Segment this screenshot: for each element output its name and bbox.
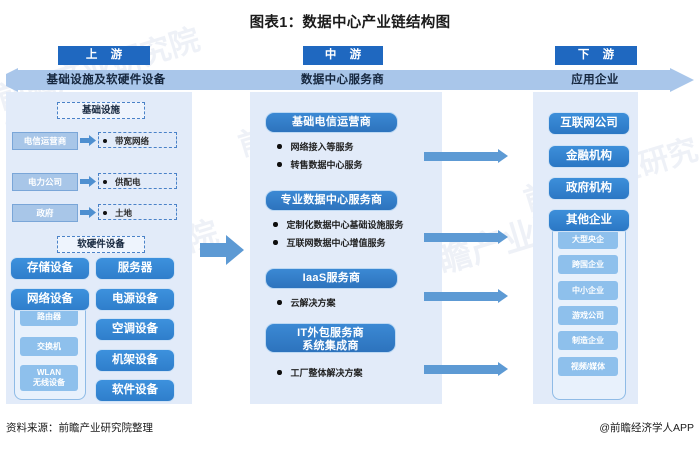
other-sub-multinational-enterprise[interactable]: 跨国企业 <box>558 255 618 274</box>
ribbon-label-midstream: 数据中心服务商 <box>250 71 435 87</box>
device-server[interactable]: 服务器 <box>95 257 175 280</box>
bullet-dot-icon <box>277 370 282 375</box>
mid-item-idc-value-added-service: 互联网数据中心增值服务 <box>273 236 386 249</box>
upstream-resource-bandwidth-network[interactable]: 带宽网络 <box>98 132 177 148</box>
page-title: 图表1：数据中心产业链结构图 <box>0 11 700 32</box>
upstream-source-government[interactable]: 政府 <box>12 204 78 222</box>
device-power-equipment[interactable]: 电源设备 <box>95 288 175 311</box>
stage-chip-midstream: 中 游 <box>303 46 383 65</box>
upstream-resource-power-supply[interactable]: 供配电 <box>98 173 177 189</box>
other-sub-sme[interactable]: 中小企业 <box>558 281 618 300</box>
device-rack-equipment[interactable]: 机架设备 <box>95 349 175 372</box>
device-storage-equipment[interactable]: 存储设备 <box>10 257 90 280</box>
arrow-mid-to-down-1-icon <box>424 152 499 161</box>
mid-item-cloud-solution: 云解决方案 <box>277 296 336 309</box>
bullet-dot-icon <box>277 144 282 149</box>
mid-header-it-outsourcing-system-integrators[interactable]: IT外包服务商 系统集成商 <box>265 323 396 353</box>
item-label: 互联网数据中心增值服务 <box>287 238 386 248</box>
item-label: 工厂整体解决方案 <box>291 368 363 378</box>
mid-header-iaas-providers[interactable]: IaaS服务商 <box>265 268 398 289</box>
upstream-resource-land[interactable]: 土地 <box>98 204 177 220</box>
other-sub-gaming-company[interactable]: 游戏公司 <box>558 306 618 325</box>
ribbon-label-upstream: 基础设施及软硬件设备 <box>16 71 196 87</box>
bullet-dot-icon <box>277 162 282 167</box>
upstream-section-infrastructure-label: 基础设施 <box>57 102 145 119</box>
resource-label: 供配电 <box>115 177 141 187</box>
header-line-2: 系统集成商 <box>266 340 395 353</box>
bullet-dot-icon <box>273 240 278 245</box>
other-sub-large-central-soe[interactable]: 大型央企 <box>558 230 618 249</box>
network-sub-wlan-wireless[interactable]: WLAN 无线设备 <box>20 365 78 391</box>
network-sub-switch[interactable]: 交换机 <box>20 337 78 356</box>
mid-item-resale-datacenter-service: 转售数据中心服务 <box>277 158 363 171</box>
resource-label: 带宽网络 <box>115 136 149 146</box>
downstream-financial-institutions[interactable]: 金融机构 <box>548 145 630 168</box>
brand-watermark: @前瞻经济学人APP <box>599 420 694 435</box>
item-label: 转售数据中心服务 <box>291 160 363 170</box>
device-air-conditioning-equipment[interactable]: 空调设备 <box>95 318 175 341</box>
mid-item-network-access-service: 网络接入等服务 <box>277 140 354 153</box>
upstream-source-power-company[interactable]: 电力公司 <box>12 173 78 191</box>
wlan-line1: WLAN <box>20 368 78 378</box>
bullet-dot-icon <box>273 222 278 227</box>
bullet-dot-icon <box>103 180 107 184</box>
arrow-mid-to-down-3-icon <box>424 292 499 301</box>
ribbon-label-downstream: 应用企业 <box>520 71 670 87</box>
item-label: 网络接入等服务 <box>291 142 354 152</box>
arrow-mid-to-down-2-icon <box>424 233 499 242</box>
downstream-internet-companies[interactable]: 互联网公司 <box>548 112 630 135</box>
device-software-equipment[interactable]: 软件设备 <box>95 379 175 402</box>
stage-chip-upstream: 上 游 <box>58 46 150 65</box>
stage-chip-downstream: 下 游 <box>555 46 637 65</box>
upstream-source-telecom-operator[interactable]: 电信运营商 <box>12 132 78 150</box>
downstream-other-enterprises[interactable]: 其他企业 <box>548 209 630 232</box>
downstream-government-agencies[interactable]: 政府机构 <box>548 177 630 200</box>
wlan-line2: 无线设备 <box>20 378 78 388</box>
resource-label: 土地 <box>115 208 132 218</box>
mid-header-professional-datacenter-providers[interactable]: 专业数据中心服务商 <box>265 190 398 211</box>
mid-item-factory-total-solution: 工厂整体解决方案 <box>277 366 363 379</box>
bullet-dot-icon <box>103 211 107 215</box>
other-sub-video-media[interactable]: 视频/媒体 <box>558 357 618 376</box>
item-label: 云解决方案 <box>291 298 336 308</box>
arrow-upstream-to-midstream-icon <box>200 235 244 265</box>
mid-item-customized-infrastructure-service: 定制化数据中心基础设施服务 <box>273 218 404 231</box>
bullet-dot-icon <box>103 139 107 143</box>
item-label: 定制化数据中心基础设施服务 <box>287 220 404 230</box>
arrow-mid-to-down-4-icon <box>424 365 499 374</box>
upstream-section-equipment-label: 软硬件设备 <box>57 236 145 253</box>
device-network-equipment[interactable]: 网络设备 <box>10 288 90 311</box>
source-note: 资料来源：前瞻产业研究院整理 <box>6 420 153 435</box>
header-line-1: IT外包服务商 <box>266 327 395 340</box>
other-sub-manufacturing-enterprise[interactable]: 制造企业 <box>558 331 618 350</box>
mid-header-basic-telecom-operators[interactable]: 基础电信运营商 <box>265 112 398 133</box>
bullet-dot-icon <box>277 300 282 305</box>
